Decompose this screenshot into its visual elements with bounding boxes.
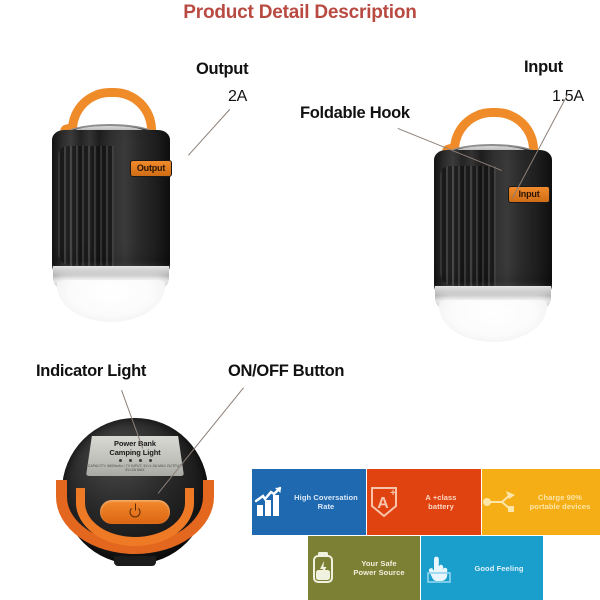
feature-text-line1: Good Feeling [474,564,523,573]
hand-touch-icon [421,551,455,585]
svg-text:A: A [377,495,389,512]
feature-text-line1: Your Safe [361,559,396,568]
feature-badge-text: Your Safe Power Source [338,559,420,577]
usb-icon [482,487,520,517]
feature-text-line2: Rate [318,502,335,511]
feature-badge-text: Good Feeling [455,564,543,573]
svg-text:+: + [390,488,396,499]
feature-badge-grid: High Coversation Rate A + A +class batte… [0,0,600,600]
feature-text-line2: portable devices [530,502,591,511]
bar-chart-arrow-icon [252,485,286,519]
a-plus-shield-icon: A + [367,484,401,520]
feature-badge-high-conversation-rate[interactable]: High Coversation Rate [252,469,366,535]
feature-badge-text: Charge 90% portable devices [520,493,600,511]
feature-text-line1: Charge 90% [538,493,582,502]
feature-text-line2: Power Source [353,568,404,577]
feature-badge-good-feeling[interactable]: Good Feeling [421,536,543,600]
feature-text-line1: High Coversation [294,493,358,502]
feature-text-line2: battery [428,502,454,511]
feature-badge-a-plus-class-battery[interactable]: A + A +class battery [367,469,481,535]
feature-text-line1: A +class [425,493,456,502]
feature-badge-charge-portable-devices[interactable]: Charge 90% portable devices [482,469,600,535]
feature-badge-text: High Coversation Rate [286,493,366,511]
battery-icon [308,550,338,586]
product-detail-image: Product Detail Description Output Output… [0,0,600,600]
feature-badge-your-safe-power-source[interactable]: Your Safe Power Source [308,536,420,600]
feature-badge-text: A +class battery [401,493,481,511]
